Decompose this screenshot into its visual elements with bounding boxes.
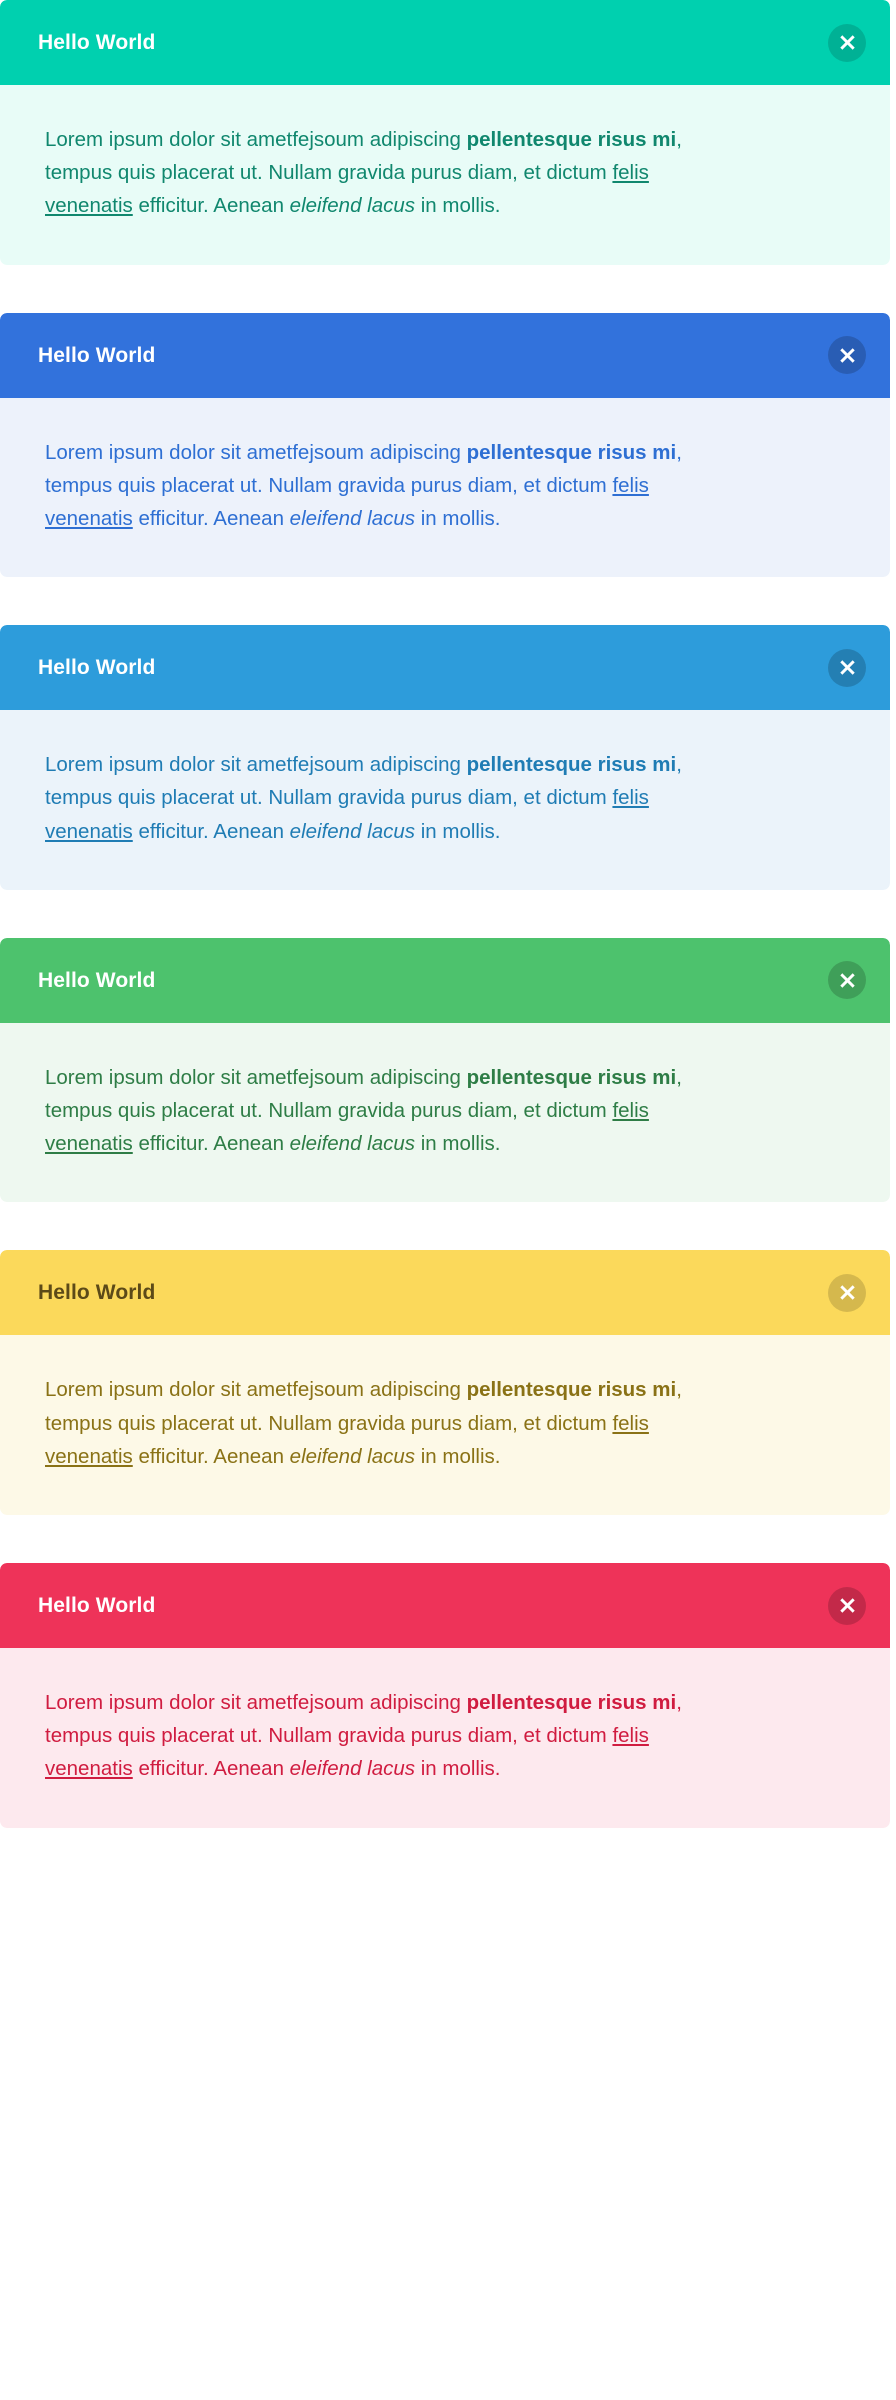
close-button-warning[interactable] [828,1274,866,1312]
text-segment-1: Lorem ipsum dolor sit ametfejsoum adipis… [45,441,467,464]
text-strong: pellentesque risus mi [467,128,677,151]
text-strong: pellentesque risus mi [467,1691,677,1714]
text-strong: pellentesque risus mi [467,441,677,464]
text-segment-3: efficitur. Aenean [133,1757,290,1780]
close-icon [840,348,855,363]
close-button-danger[interactable] [828,1587,866,1625]
alert-card-danger: Hello World Lorem ipsum dolor sit ametfe… [0,1563,890,1828]
text-segment-1: Lorem ipsum dolor sit ametfejsoum adipis… [45,1691,467,1714]
alert-card-text: Lorem ipsum dolor sit ametfejsoum adipis… [45,1061,705,1161]
close-icon [840,1285,855,1300]
text-segment-1: Lorem ipsum dolor sit ametfejsoum adipis… [45,1378,467,1401]
text-segment-4: in mollis. [415,820,500,843]
text-segment-4: in mollis. [415,1757,500,1780]
text-segment-4: in mollis. [415,507,500,530]
alert-card-teal: Hello World Lorem ipsum dolor sit ametfe… [0,0,890,265]
text-segment-1: Lorem ipsum dolor sit ametfejsoum adipis… [45,1066,467,1089]
text-segment-4: in mollis. [415,1132,500,1155]
alert-card-body-primary: Lorem ipsum dolor sit ametfejsoum adipis… [0,398,890,578]
text-emphasis: eleifend lacus [290,1757,415,1780]
alert-card-text: Lorem ipsum dolor sit ametfejsoum adipis… [45,436,705,536]
close-button-teal[interactable] [828,24,866,62]
text-segment-4: in mollis. [415,194,500,217]
text-segment-3: efficitur. Aenean [133,820,290,843]
alert-card-title-success: Hello World [38,970,155,991]
close-icon [840,973,855,988]
close-icon [840,660,855,675]
alert-card-text: Lorem ipsum dolor sit ametfejsoum adipis… [45,123,705,223]
alert-card-body-teal: Lorem ipsum dolor sit ametfejsoum adipis… [0,85,890,265]
alert-card-info: Hello World Lorem ipsum dolor sit ametfe… [0,625,890,890]
close-icon [840,1598,855,1613]
alert-card-body-info: Lorem ipsum dolor sit ametfejsoum adipis… [0,710,890,890]
alert-card-title-teal: Hello World [38,32,155,53]
text-emphasis: eleifend lacus [290,820,415,843]
text-segment-1: Lorem ipsum dolor sit ametfejsoum adipis… [45,128,467,151]
alert-card-header-info: Hello World [0,625,890,710]
text-segment-4: in mollis. [415,1445,500,1468]
alert-card-title-danger: Hello World [38,1595,155,1616]
alert-card-body-success: Lorem ipsum dolor sit ametfejsoum adipis… [0,1023,890,1203]
alert-card-body-danger: Lorem ipsum dolor sit ametfejsoum adipis… [0,1648,890,1828]
close-button-success[interactable] [828,961,866,999]
text-emphasis: eleifend lacus [290,1132,415,1155]
text-segment-3: efficitur. Aenean [133,1132,290,1155]
alert-card-text: Lorem ipsum dolor sit ametfejsoum adipis… [45,748,705,848]
text-segment-3: efficitur. Aenean [133,1445,290,1468]
close-button-primary[interactable] [828,336,866,374]
alert-card-header-teal: Hello World [0,0,890,85]
alert-card-text: Lorem ipsum dolor sit ametfejsoum adipis… [45,1373,705,1473]
text-segment-1: Lorem ipsum dolor sit ametfejsoum adipis… [45,753,467,776]
text-emphasis: eleifend lacus [290,1445,415,1468]
alert-card-header-warning: Hello World [0,1250,890,1335]
alert-card-warning: Hello World Lorem ipsum dolor sit ametfe… [0,1250,890,1515]
text-emphasis: eleifend lacus [290,507,415,530]
alert-card-success: Hello World Lorem ipsum dolor sit ametfe… [0,938,890,1203]
alert-card-primary: Hello World Lorem ipsum dolor sit ametfe… [0,313,890,578]
alert-card-header-danger: Hello World [0,1563,890,1648]
text-strong: pellentesque risus mi [467,1378,677,1401]
text-segment-3: efficitur. Aenean [133,194,290,217]
alert-card-stack: Hello World Lorem ipsum dolor sit ametfe… [0,0,896,1828]
text-strong: pellentesque risus mi [467,753,677,776]
close-button-info[interactable] [828,649,866,687]
alert-card-body-warning: Lorem ipsum dolor sit ametfejsoum adipis… [0,1335,890,1515]
alert-card-text: Lorem ipsum dolor sit ametfejsoum adipis… [45,1686,705,1786]
alert-card-title-primary: Hello World [38,345,155,366]
alert-card-title-info: Hello World [38,657,155,678]
text-segment-3: efficitur. Aenean [133,507,290,530]
text-strong: pellentesque risus mi [467,1066,677,1089]
close-icon [840,35,855,50]
alert-card-header-primary: Hello World [0,313,890,398]
text-emphasis: eleifend lacus [290,194,415,217]
alert-card-header-success: Hello World [0,938,890,1023]
alert-card-title-warning: Hello World [38,1282,155,1303]
